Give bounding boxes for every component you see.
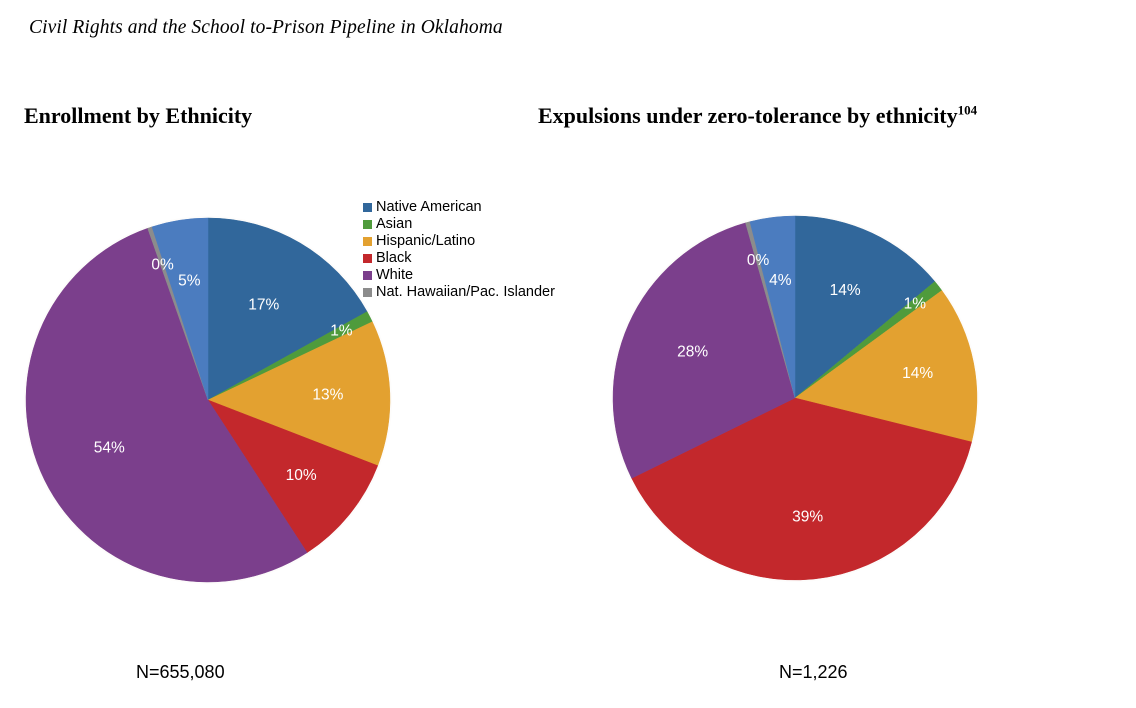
pie-slice-label: 28% <box>677 343 708 360</box>
pie-chart-enrollment-svg: 17%1%13%10%54%0%5% <box>20 198 400 598</box>
legend-item-label: Nat. Hawaiian/Pac. Islander <box>376 284 555 301</box>
legend-item-label: Native American <box>376 199 482 216</box>
pie-chart-expulsions-svg: 14%1%14%39%28%0%4% <box>600 198 1010 598</box>
pie-slice-label: 14% <box>902 365 933 382</box>
pie-slice-label: 54% <box>94 440 125 457</box>
legend-item-label: Hispanic/Latino <box>376 233 475 250</box>
legend-item-label: Asian <box>376 216 412 233</box>
legend-item: Nat. Hawaiian/Pac. Islander <box>363 284 613 301</box>
legend-swatch-icon <box>363 254 372 263</box>
chart-title-right: Expulsions under zero-tolerance by ethni… <box>538 103 977 129</box>
chart-title-left: Enrollment by Ethnicity <box>24 103 252 129</box>
chart-legend: Native AmericanAsianHispanic/LatinoBlack… <box>363 199 613 301</box>
legend-item: White <box>363 267 613 284</box>
pie-slice-label: 17% <box>248 296 279 313</box>
pie-slice-label: 0% <box>747 252 770 269</box>
pie-slice-label: 0% <box>151 257 174 274</box>
legend-item: Hispanic/Latino <box>363 233 613 250</box>
legend-swatch-icon <box>363 271 372 280</box>
chart-title-right-text: Expulsions under zero-tolerance by ethni… <box>538 103 958 128</box>
legend-item: Black <box>363 250 613 267</box>
n-label-enrollment: N=655,080 <box>136 662 225 683</box>
pie-slice-label: 13% <box>312 387 343 404</box>
legend-item: Native American <box>363 199 613 216</box>
chart-title-left-text: Enrollment by Ethnicity <box>24 103 252 128</box>
pie-slice-label: 4% <box>769 272 792 289</box>
pie-slice-label: 14% <box>830 282 861 299</box>
pie-slice-label: 5% <box>178 273 201 290</box>
legend-swatch-icon <box>363 288 372 297</box>
legend-swatch-icon <box>363 237 372 246</box>
legend-swatch-icon <box>363 220 372 229</box>
pie-slice-label: 1% <box>330 322 353 339</box>
pie-chart-expulsions: 14%1%14%39%28%0%4% <box>600 198 1010 598</box>
n-label-expulsions: N=1,226 <box>779 662 848 683</box>
pie-chart-enrollment: 17%1%13%10%54%0%5% <box>20 198 400 598</box>
legend-item-label: Black <box>376 250 411 267</box>
pie-slice-label: 39% <box>792 508 823 525</box>
pie-slice-label: 1% <box>904 295 927 312</box>
document-header: Civil Rights and the School to-Prison Pi… <box>29 17 503 39</box>
pie-slice-label: 10% <box>286 467 317 484</box>
legend-item: Asian <box>363 216 613 233</box>
footnote-reference: 104 <box>958 103 978 118</box>
legend-swatch-icon <box>363 203 372 212</box>
legend-item-label: White <box>376 267 413 284</box>
